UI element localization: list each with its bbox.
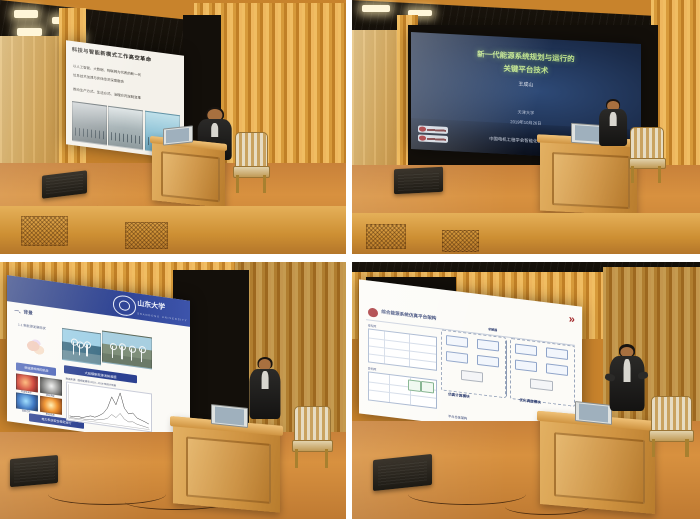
podium-panel: [552, 152, 630, 209]
photo-detail: [111, 133, 140, 145]
table-col: [384, 331, 385, 363]
panel-label: 模型库: [368, 323, 376, 328]
turbine: [140, 349, 141, 361]
stage-apron: [0, 206, 346, 254]
table-row: [369, 345, 436, 354]
speaker-mesh: [378, 459, 428, 486]
standing-presenter: [599, 99, 627, 155]
podium-panel: [554, 433, 645, 504]
chair-leg: [685, 439, 688, 458]
diagram-node: [421, 380, 434, 393]
turbine: [131, 349, 132, 360]
red-seal-logo: [368, 307, 378, 318]
speaker-mesh: [398, 170, 439, 190]
standing-presenter: [610, 344, 645, 421]
photo-wind-turbine-array: [102, 331, 152, 369]
slide-title: 科技与智能新模式工作高空革命: [72, 46, 152, 63]
side-chair: [630, 127, 661, 183]
auditorium-scene-tl: 科技与智能新模式工作高空革命 以人工智能、大数据、物联网为代表的新一代 信息技术…: [0, 0, 346, 254]
stage-monitor-speaker: [394, 166, 443, 194]
chair-back: [235, 132, 268, 169]
turbine: [86, 344, 87, 356]
stage-apron: [352, 213, 700, 254]
side-chair: [651, 396, 689, 458]
shirt: [211, 123, 219, 138]
auditorium-scene-br: » 综合能源系统仿真平台架构 模型库 算例库: [352, 262, 700, 519]
turbine: [79, 344, 80, 355]
photo-bottom-right[interactable]: » 综合能源系统仿真平台架构 模型库 算例库: [352, 262, 700, 519]
logo-dot: [420, 127, 427, 132]
logo-bars: [428, 128, 447, 132]
logo-dot: [420, 136, 427, 141]
china-map: [18, 329, 55, 366]
apron-vent: [125, 222, 169, 249]
university-name-cn: 山东大学: [137, 298, 165, 312]
speaker-mesh: [14, 460, 55, 483]
photo-bottom-left[interactable]: 山东大学 SHANDONG UNIVERSITY 一、背景 1.1 新能源发展现…: [0, 262, 346, 519]
podium: [540, 411, 655, 514]
slide-photo-skyline: [108, 106, 143, 150]
chair-leg: [263, 175, 266, 193]
podium-laptop: [211, 404, 248, 428]
ceiling-lamp: [362, 5, 390, 12]
laptop-screen: [215, 407, 244, 425]
solver-spine: [506, 340, 507, 396]
floor-cable: [408, 483, 526, 505]
shirt: [261, 371, 268, 388]
slide-body-line: 推动生产方式、生活方式、治理方式深刻变革: [73, 86, 141, 100]
chair-leg: [652, 439, 655, 458]
laptop-screen: [166, 128, 189, 143]
table-col: [409, 334, 410, 366]
podium-panel: [186, 437, 272, 504]
sponsor-logo: [418, 135, 448, 143]
chair-back: [294, 406, 331, 444]
photo-detail: [75, 128, 104, 140]
standing-presenter: [249, 357, 280, 429]
laptop-screen: [575, 126, 601, 143]
bottom-caption: 平台总体架构: [448, 413, 467, 420]
table-row: [369, 354, 436, 363]
shirt: [610, 112, 617, 127]
podium-panel: [161, 151, 220, 202]
chair-leg: [236, 175, 239, 193]
auditorium-scene-bl: 山东大学 SHANDONG UNIVERSITY 一、背景 1.1 新能源发展现…: [0, 262, 346, 519]
auditorium-scene-tr: 新一代能源系统规划与运行的 关键平台技术 王成山 天津大学 2019年10月26…: [352, 0, 700, 254]
podium-laptop: [163, 125, 193, 145]
podium: [152, 136, 225, 207]
double-chevron-right-icon: »: [569, 313, 573, 326]
ceiling-lamp: [14, 10, 38, 18]
photo-grid: 科技与智能新模式工作高空革命 以人工智能、大数据、物联网为代表的新一代 信息技术…: [0, 0, 700, 519]
podium: [173, 417, 280, 514]
ceiling-lamp: [17, 28, 41, 36]
speaker-mesh: [45, 174, 83, 195]
turbine: [121, 345, 122, 358]
diagram-node: [408, 379, 421, 392]
slide-body-line: 信息技术加速与实体经济深度融合: [73, 73, 124, 85]
photo-top-right[interactable]: 新一代能源系统规划与运行的 关键平台技术 王成山 天津大学 2019年10月26…: [352, 0, 700, 254]
turbine: [112, 345, 113, 357]
table-col: [389, 375, 390, 402]
apron-vent: [442, 230, 479, 252]
photo-offshore-wind-farm: [62, 328, 101, 365]
table-row: [369, 337, 436, 346]
laptop-screen: [579, 404, 608, 422]
university-name-en: SHANDONG UNIVERSITY: [137, 312, 187, 322]
sponsor-logo: [418, 126, 448, 134]
side-chair: [294, 406, 329, 468]
panel-label: 算例库: [368, 366, 376, 371]
shirt: [623, 359, 630, 382]
chair-back: [630, 127, 663, 161]
chair-leg: [295, 449, 298, 468]
model-library-table: [368, 328, 437, 371]
slide-photo-industrial: [72, 102, 107, 146]
turbine: [72, 341, 73, 355]
stage-monitor-speaker: [10, 455, 58, 488]
chair-leg: [631, 166, 634, 183]
section-label: 一、背景: [14, 308, 32, 317]
podium-laptop: [575, 401, 612, 425]
center-label: 求解器: [488, 327, 497, 332]
chair-back: [651, 396, 691, 434]
sdu-seal-logo: [113, 294, 135, 317]
presentation-screen: 山东大学 SHANDONG UNIVERSITY 一、背景 1.1 新能源发展现…: [7, 275, 190, 447]
chair-leg: [325, 449, 328, 468]
apron-vent: [366, 224, 406, 249]
logo-bars: [428, 137, 447, 141]
chair-leg: [658, 166, 661, 183]
side-chair: [235, 132, 266, 193]
photo-top-left[interactable]: 科技与智能新模式工作高空革命 以人工智能、大数据、物联网为代表的新一代 信息技术…: [0, 0, 346, 254]
apron-vent: [21, 216, 68, 246]
slide-title: 综合能源系统仿真平台架构: [381, 309, 436, 322]
